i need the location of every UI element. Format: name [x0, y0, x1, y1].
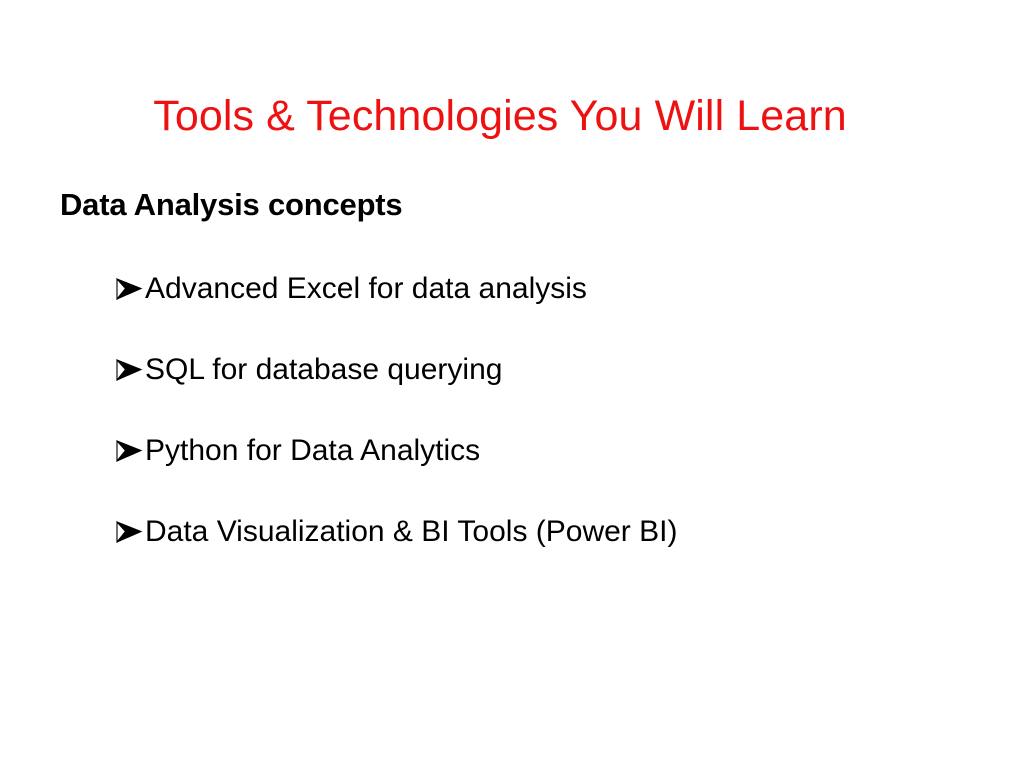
bullet-list: Advanced Excel for data analysis SQL for… [116, 270, 956, 594]
list-item-label: Advanced Excel for data analysis [145, 270, 587, 308]
page-title: Tools & Technologies You Will Learn [0, 91, 1000, 142]
list-item-label: Python for Data Analytics [145, 432, 480, 470]
list-item: Data Visualization & BI Tools (Power BI) [116, 513, 956, 594]
section-heading: Data Analysis concepts [60, 186, 960, 224]
arrowhead-right-bullet-icon [116, 521, 145, 543]
arrowhead-right-bullet-icon [116, 359, 145, 381]
list-item: SQL for database querying [116, 351, 956, 432]
list-item-label: Data Visualization & BI Tools (Power BI) [145, 513, 677, 551]
list-item: Python for Data Analytics [116, 432, 956, 513]
list-item: Advanced Excel for data analysis [116, 270, 956, 351]
presentation-slide: Tools & Technologies You Will Learn Data… [0, 0, 1024, 768]
arrowhead-right-bullet-icon [116, 440, 145, 462]
arrowhead-right-bullet-icon [116, 278, 145, 300]
list-item-label: SQL for database querying [145, 351, 502, 389]
slide-body: Data Analysis concepts Advanced Excel fo… [60, 186, 960, 224]
